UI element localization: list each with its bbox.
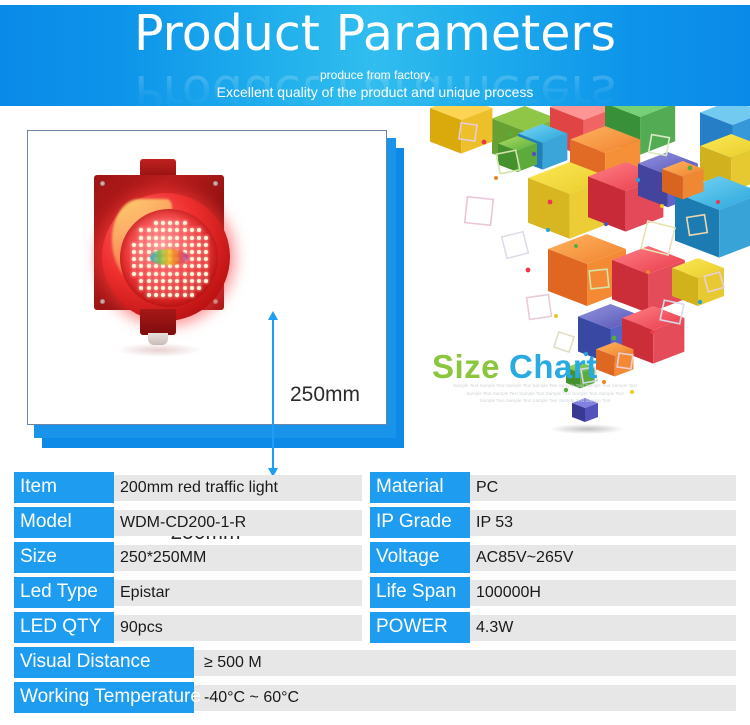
page-title: Product Parameters — [0, 5, 750, 65]
product-photo-frame: 250mm 250mm — [27, 130, 387, 425]
table-row: LED QTY90pcsPOWER4.3W — [14, 612, 736, 643]
spec-label-life-span: Life Span — [370, 577, 470, 608]
spec-cell-pair: Led TypeEpistar — [14, 577, 370, 608]
spec-label-size: Size — [14, 542, 114, 573]
screw-icon — [213, 181, 218, 186]
brand-logo — [150, 249, 188, 265]
table-row: ModelWDM-CD200-1-RIP GradeIP 53 — [14, 507, 736, 538]
vertical-dimension-arrow — [272, 319, 274, 469]
sample-text-line-1: Sample Text Sample Text Sample Text Samp… — [420, 382, 670, 390]
spec-value-ip-grade: IP 53 — [476, 507, 513, 538]
size-chart-graphic: SizeChart Sample Text Sample Text Sample… — [400, 106, 750, 456]
cube-ground-shadow — [550, 424, 624, 434]
spec-value-led-qty: 90pcs — [120, 612, 163, 643]
spec-value-working-temperature: -40°C ~ 60°C — [204, 682, 299, 713]
table-row: Item200mm red traffic lightMaterialPC — [14, 472, 736, 503]
spec-cell-pair: VoltageAC85V~265V — [370, 542, 736, 573]
table-row: Visual Distance≥ 500 M — [14, 647, 736, 678]
spec-label-voltage: Voltage — [370, 542, 470, 573]
sample-text-line-3: Sample Text Sample Text Sample Text Samp… — [420, 397, 670, 405]
spec-value-material: PC — [476, 472, 498, 503]
sample-text-line-2: Sample Text Sample Text Sample Text Samp… — [420, 390, 670, 398]
spec-cell-pair: IP GradeIP 53 — [370, 507, 736, 538]
size-chart-word-chart: Chart — [509, 348, 598, 385]
spec-value-visual-distance: ≥ 500 M — [204, 647, 262, 678]
spec-label-led-type: Led Type — [14, 577, 114, 608]
spec-label-visual-distance: Visual Distance — [14, 647, 194, 678]
spec-value-life-span: 100000H — [476, 577, 541, 608]
spec-value-model: WDM-CD200-1-R — [120, 507, 246, 538]
header-banner: Product Parameters Product Parameters pr… — [0, 5, 750, 106]
spec-cell-pair: LED QTY90pcs — [14, 612, 370, 643]
spec-cell-pair: Item200mm red traffic light — [14, 472, 370, 503]
spec-value-size: 250*250MM — [120, 542, 206, 573]
product-ground-shadow — [116, 343, 202, 357]
spec-cell-pair: Life Span100000H — [370, 577, 736, 608]
screw-icon — [100, 181, 105, 186]
traffic-light-housing — [94, 175, 224, 310]
size-chart-title: SizeChart — [432, 348, 732, 386]
spec-label-led-qty: LED QTY — [14, 612, 114, 643]
banner-subtitle-small: produce from factory — [0, 67, 750, 83]
spec-value-voltage: AC85V~265V — [476, 542, 573, 573]
product-photo-card-stack: 250mm 250mm — [22, 126, 412, 452]
spec-label-material: Material — [370, 472, 470, 503]
spec-cell-pair: MaterialPC — [370, 472, 736, 503]
vertical-dimension-label: 250mm — [290, 383, 360, 407]
spec-cell-pair: Size250*250MM — [14, 542, 370, 573]
spec-label-working-temperature: Working Temperature — [14, 682, 194, 713]
table-row: Size250*250MMVoltageAC85V~265V — [14, 542, 736, 573]
spec-value-power: 4.3W — [476, 612, 513, 643]
traffic-light-lens — [120, 209, 218, 307]
spec-cell-pair: ModelWDM-CD200-1-R — [14, 507, 370, 538]
table-row: Working Temperature-40°C ~ 60°C — [14, 682, 736, 713]
spec-value-item: 200mm red traffic light — [120, 472, 278, 503]
spec-label-power: POWER — [370, 612, 470, 643]
banner-subtitle-large: Excellent quality of the product and uni… — [0, 83, 750, 101]
traffic-light-bottom-cap — [140, 309, 176, 335]
spec-label-model: Model — [14, 507, 114, 538]
product-parameters-page: Product Parameters Product Parameters pr… — [0, 0, 750, 725]
spec-label-item: Item — [14, 472, 114, 503]
specification-table: Item200mm red traffic lightMaterialPCMod… — [14, 472, 736, 717]
size-chart-sample-text: Sample Text Sample Text Sample Text Samp… — [420, 382, 670, 405]
spec-label-ip-grade: IP Grade — [370, 507, 470, 538]
size-chart-word-size: Size — [432, 348, 500, 385]
screw-icon — [100, 299, 105, 304]
spec-value-led-type: Epistar — [120, 577, 170, 608]
spec-cell-pair: POWER4.3W — [370, 612, 736, 643]
table-row: Led TypeEpistarLife Span100000H — [14, 577, 736, 608]
traffic-light-image — [76, 153, 241, 368]
